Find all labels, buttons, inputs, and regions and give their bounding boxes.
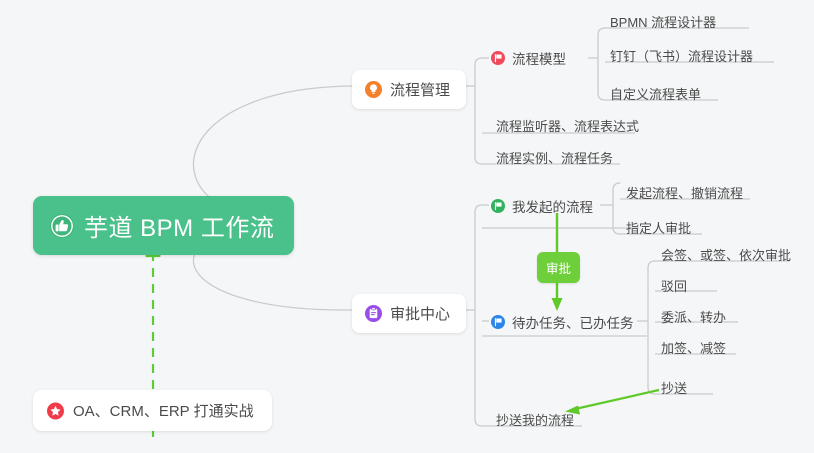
leaf-process-listener-expression[interactable]: 流程监听器、流程表达式 <box>487 113 649 140</box>
branch-label: 流程管理 <box>390 79 450 100</box>
note-label: OA、CRM、ERP 打通实战 <box>73 400 254 421</box>
leaf-countersign-orsign-sequential[interactable]: 会签、或签、依次审批 <box>652 242 801 269</box>
node-todo-done-tasks[interactable]: 待办任务、已办任务 <box>491 312 634 332</box>
leaf-start-cancel-process[interactable]: 发起流程、撤销流程 <box>617 180 753 207</box>
flag-icon <box>491 315 505 329</box>
flag-icon <box>491 199 505 213</box>
leaf-cc[interactable]: 抄送 <box>652 375 697 402</box>
leaf-bpmn-designer[interactable]: BPMN 流程设计器 <box>601 9 726 36</box>
leaf-cc-to-me-process[interactable]: 抄送我的流程 <box>487 407 584 434</box>
node-label: 待办任务、已办任务 <box>512 312 634 332</box>
leaf-add-remove-sign[interactable]: 加签、减签 <box>652 335 736 362</box>
mindmap-canvas: 芋道 BPM 工作流 流程管理 流程模型 BPMN 流程设计器 钉钉（飞书）流程… <box>0 0 814 453</box>
approval-badge[interactable]: 审批 <box>537 252 580 283</box>
branch-process-management[interactable]: 流程管理 <box>352 70 466 109</box>
root-node[interactable]: 芋道 BPM 工作流 <box>33 196 294 255</box>
clipboard-icon <box>365 305 382 322</box>
leaf-delegate-transfer[interactable]: 委派、转办 <box>652 304 736 331</box>
lightbulb-icon <box>365 81 382 98</box>
leaf-custom-process-form[interactable]: 自定义流程表单 <box>601 81 711 108</box>
leaf-dingtalk-feishu-designer[interactable]: 钉钉（飞书）流程设计器 <box>601 43 763 70</box>
branch-approval-center[interactable]: 审批中心 <box>352 294 466 333</box>
leaf-reject[interactable]: 驳回 <box>652 273 697 300</box>
root-label: 芋道 BPM 工作流 <box>84 208 274 243</box>
flag-icon <box>491 51 505 65</box>
note-oa-crm-erp[interactable]: OA、CRM、ERP 打通实战 <box>33 390 272 431</box>
node-my-started-process[interactable]: 我发起的流程 <box>491 196 593 216</box>
leaf-assignee-approval[interactable]: 指定人审批 <box>617 215 701 242</box>
node-label: 我发起的流程 <box>512 196 593 216</box>
branch-label: 审批中心 <box>390 303 450 324</box>
leaf-process-instance-task[interactable]: 流程实例、流程任务 <box>487 145 623 172</box>
node-process-model[interactable]: 流程模型 <box>491 48 566 68</box>
node-label: 流程模型 <box>512 48 566 68</box>
star-icon <box>47 402 64 419</box>
thumbs-up-icon <box>49 213 75 239</box>
